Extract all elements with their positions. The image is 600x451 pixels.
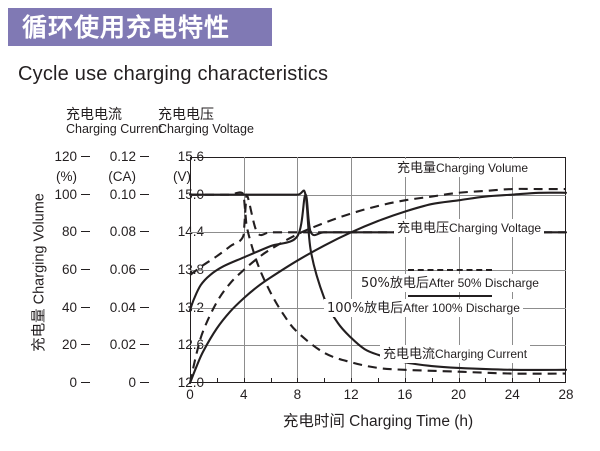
tick-mark bbox=[81, 307, 90, 308]
axis-tick-label: 0.10 bbox=[110, 189, 149, 201]
axis-tick-label: 40 bbox=[62, 302, 90, 314]
annotation-voltage-en: Charging Voltage bbox=[449, 221, 541, 235]
x-axis-label: 充电时间 Charging Time (h) bbox=[190, 409, 566, 431]
legend-key-after-100-discharge bbox=[408, 295, 492, 297]
x-axis-label-en: Charging Time (h) bbox=[349, 413, 473, 430]
tick-mark bbox=[140, 269, 149, 270]
axis-tick-label: 0.06 bbox=[110, 264, 149, 276]
annotation-after-50-discharge: 50%放电后After 50% Discharge bbox=[358, 274, 542, 292]
tick-mark bbox=[140, 382, 149, 383]
tick-value: 40 bbox=[62, 300, 77, 315]
annotation-charging-voltage: 充电电压Charging Voltage bbox=[394, 219, 544, 237]
tick-value: 0.08 bbox=[110, 224, 136, 239]
axis-tick-label: 0 bbox=[69, 377, 90, 389]
axis-tick-label: 0.12 bbox=[110, 151, 149, 163]
banner-title: 循环使用充电特性 bbox=[8, 15, 230, 40]
tick-mark bbox=[140, 344, 149, 345]
annotation-current-en: Charging Current bbox=[435, 347, 527, 361]
axis-tick-label: 80 bbox=[62, 226, 90, 238]
scale-unit-ca: (CA) bbox=[108, 171, 136, 183]
x-axis-tick-label: 12 bbox=[344, 386, 359, 404]
tick-value: 80 bbox=[62, 224, 77, 239]
tick-mark bbox=[140, 156, 149, 157]
annotation-volume-en: Charging Volume bbox=[436, 161, 528, 175]
y-axis-label-charging-volume: 充电量 Charging Volume bbox=[28, 183, 49, 363]
plot-area: 充电量Charging Volume 充电电压Charging Voltage … bbox=[190, 157, 566, 383]
annotation-current-cn: 充电电流 bbox=[383, 347, 435, 362]
tick-value: 0.02 bbox=[110, 337, 136, 352]
x-axis-tick-label: 20 bbox=[451, 386, 466, 404]
annotation-charging-current: 充电电流Charging Current bbox=[380, 345, 530, 363]
axis-tick-label: 0.02 bbox=[110, 339, 149, 351]
tick-value: 100 bbox=[54, 187, 77, 202]
tick-value: 0 bbox=[128, 375, 136, 390]
x-axis-tick-label: 24 bbox=[505, 386, 520, 404]
annotation-d50-en: After 50% Discharge bbox=[429, 276, 539, 290]
annotation-volume-cn: 充电量 bbox=[397, 161, 436, 176]
annotation-d100-en: After 100% Discharge bbox=[403, 301, 520, 315]
axis-heading-voltage-cn: 充电电压 bbox=[158, 108, 254, 123]
tick-value: 0.04 bbox=[110, 300, 136, 315]
tick-mark bbox=[81, 194, 90, 195]
tick-mark bbox=[140, 194, 149, 195]
axis-tick-label: 120 bbox=[54, 151, 90, 163]
tick-mark bbox=[81, 156, 90, 157]
axis-tick-label: 0.08 bbox=[110, 226, 149, 238]
tick-value: 0.12 bbox=[110, 149, 136, 164]
x-axis-tick-label: 16 bbox=[397, 386, 412, 404]
curve-voltage-after-100-discharge bbox=[190, 195, 566, 311]
tick-mark bbox=[81, 344, 90, 345]
x-axis-tick-label: 4 bbox=[240, 386, 248, 404]
axis-heading-charging-voltage: 充电电压 Charging Voltage bbox=[158, 108, 254, 136]
scale-unit-percent: (%) bbox=[56, 171, 77, 183]
page-banner: 循环使用充电特性 bbox=[8, 8, 272, 46]
tick-value: 0.10 bbox=[110, 187, 136, 202]
annotation-d100-cn: 100%放电后 bbox=[327, 301, 403, 316]
tick-mark bbox=[81, 269, 90, 270]
axis-heading-voltage-en: Charging Voltage bbox=[158, 123, 254, 136]
axis-heading-current-cn: 充电电流 bbox=[66, 108, 162, 123]
x-axis-tick-labels: 0481216202428 bbox=[190, 386, 566, 404]
tick-mark bbox=[140, 307, 149, 308]
page-subtitle: Cycle use charging characteristics bbox=[18, 63, 328, 86]
tick-value: 0.06 bbox=[110, 262, 136, 277]
x-axis-tick-label: 0 bbox=[186, 386, 194, 404]
tick-mark bbox=[81, 231, 90, 232]
tick-value: 60 bbox=[62, 262, 77, 277]
legend-key-after-50-discharge bbox=[408, 269, 492, 271]
tick-value: 120 bbox=[54, 149, 77, 164]
axis-heading-charging-current: 充电电流 Charging Current bbox=[66, 108, 162, 136]
tick-value: 0 bbox=[69, 375, 77, 390]
x-axis-tick-label: 8 bbox=[294, 386, 302, 404]
tick-value: 20 bbox=[62, 337, 77, 352]
annotation-d50-cn: 50%放电后 bbox=[361, 276, 429, 291]
tick-mark bbox=[140, 231, 149, 232]
annotation-charging-volume: 充电量Charging Volume bbox=[394, 159, 531, 177]
axis-tick-label: 0.04 bbox=[110, 302, 149, 314]
annotation-voltage-cn: 充电电压 bbox=[397, 221, 449, 236]
annotation-after-100-discharge: 100%放电后After 100% Discharge bbox=[324, 299, 523, 317]
axis-heading-current-en: Charging Current bbox=[66, 123, 162, 136]
axis-tick-label: 60 bbox=[62, 264, 90, 276]
x-axis-label-cn: 充电时间 bbox=[283, 412, 345, 430]
x-axis-tick-label: 28 bbox=[558, 386, 573, 404]
axis-tick-label: 20 bbox=[62, 339, 90, 351]
chart-page: 循环使用充电特性 Cycle use charging characterist… bbox=[0, 0, 600, 451]
tick-mark bbox=[81, 382, 90, 383]
axis-tick-label: 0 bbox=[128, 377, 149, 389]
axis-tick-label: 100 bbox=[54, 189, 90, 201]
scale-unit-volt: (V) bbox=[173, 171, 191, 183]
